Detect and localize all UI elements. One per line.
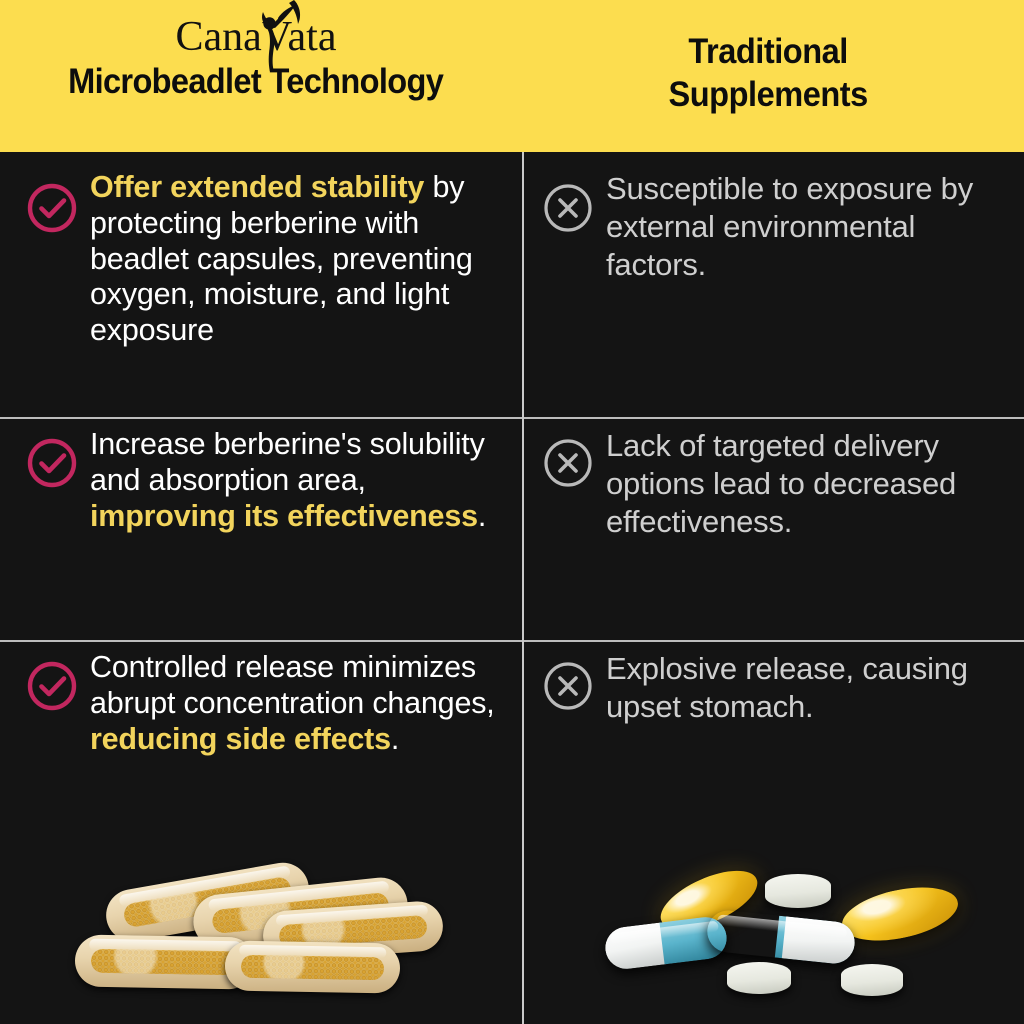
x-circle-icon	[542, 650, 600, 1014]
con-text-wrap: Lack of targeted delivery options lead t…	[600, 427, 1010, 622]
comparison-grid: Offer extended stability by protecting b…	[0, 152, 1024, 1024]
con-text: Lack of targeted delivery options lead t…	[606, 427, 1010, 540]
brand-headline: Microbeadlet Technology	[68, 64, 443, 101]
check-circle-icon	[26, 427, 84, 622]
con-text-wrap: Susceptible to exposure by external envi…	[600, 170, 1010, 399]
brand-logo-text: CanaVata	[176, 16, 337, 58]
brand-logo: CanaVata	[0, 8, 512, 66]
pro-text-wrap: Increase berberine's solubility and abso…	[84, 427, 498, 622]
check-circle-icon	[26, 650, 84, 1014]
pro-text: Increase berberine's solubility and abso…	[90, 427, 498, 534]
con-cell: Susceptible to exposure by external envi…	[512, 152, 1024, 409]
pro-cell: Increase berberine's solubility and abso…	[0, 409, 512, 632]
comparison-row: Increase berberine's solubility and abso…	[0, 409, 1024, 632]
con-cell: Explosive release, causing upset stomach…	[512, 632, 1024, 1024]
con-text-wrap: Explosive release, causing upset stomach…	[600, 650, 1010, 1014]
pro-text: Controlled release minimizes abrupt conc…	[90, 650, 498, 757]
pro-highlight: Offer extended stability	[90, 170, 424, 204]
column-divider	[522, 152, 524, 1024]
header-comparison-column: Traditional Supplements	[512, 0, 1024, 152]
pro-text: Offer extended stability by protecting b…	[90, 170, 498, 349]
row-divider	[0, 640, 1024, 642]
pro-text-wrap: Controlled release minimizes abrupt conc…	[84, 650, 498, 1014]
comparison-row: Offer extended stability by protecting b…	[0, 152, 1024, 409]
check-circle-icon	[26, 170, 84, 399]
pro-lead: Increase berberine's solubility and abso…	[90, 427, 485, 497]
x-circle-icon	[542, 170, 600, 399]
con-cell: Lack of targeted delivery options lead t…	[512, 409, 1024, 632]
comparison-headline-line1: Traditional	[668, 31, 867, 74]
x-circle-icon	[542, 427, 600, 622]
pro-highlight: improving its effectiveness	[90, 499, 478, 533]
con-text: Explosive release, causing upset stomach…	[606, 650, 1010, 726]
pro-tail: .	[391, 722, 399, 756]
row-divider	[0, 417, 1024, 419]
pro-tail: .	[478, 499, 486, 533]
pro-text-wrap: Offer extended stability by protecting b…	[84, 170, 498, 399]
pro-cell: Controlled release minimizes abrupt conc…	[0, 632, 512, 1024]
pro-cell: Offer extended stability by protecting b…	[0, 152, 512, 409]
header-brand-column: CanaVata Microbeadlet Technology	[0, 0, 512, 152]
comparison-headline-line2: Supplements	[668, 74, 867, 117]
con-text: Susceptible to exposure by external envi…	[606, 170, 1010, 283]
pro-lead: Controlled release minimizes abrupt conc…	[90, 650, 495, 720]
header-banner: CanaVata Microbeadlet Technology Traditi…	[0, 0, 1024, 152]
pro-highlight: reducing side effects	[90, 722, 391, 756]
comparison-headline: Traditional Supplements	[668, 31, 867, 116]
comparison-row: Controlled release minimizes abrupt conc…	[0, 632, 1024, 1024]
comparison-infographic: CanaVata Microbeadlet Technology Traditi…	[0, 0, 1024, 1024]
